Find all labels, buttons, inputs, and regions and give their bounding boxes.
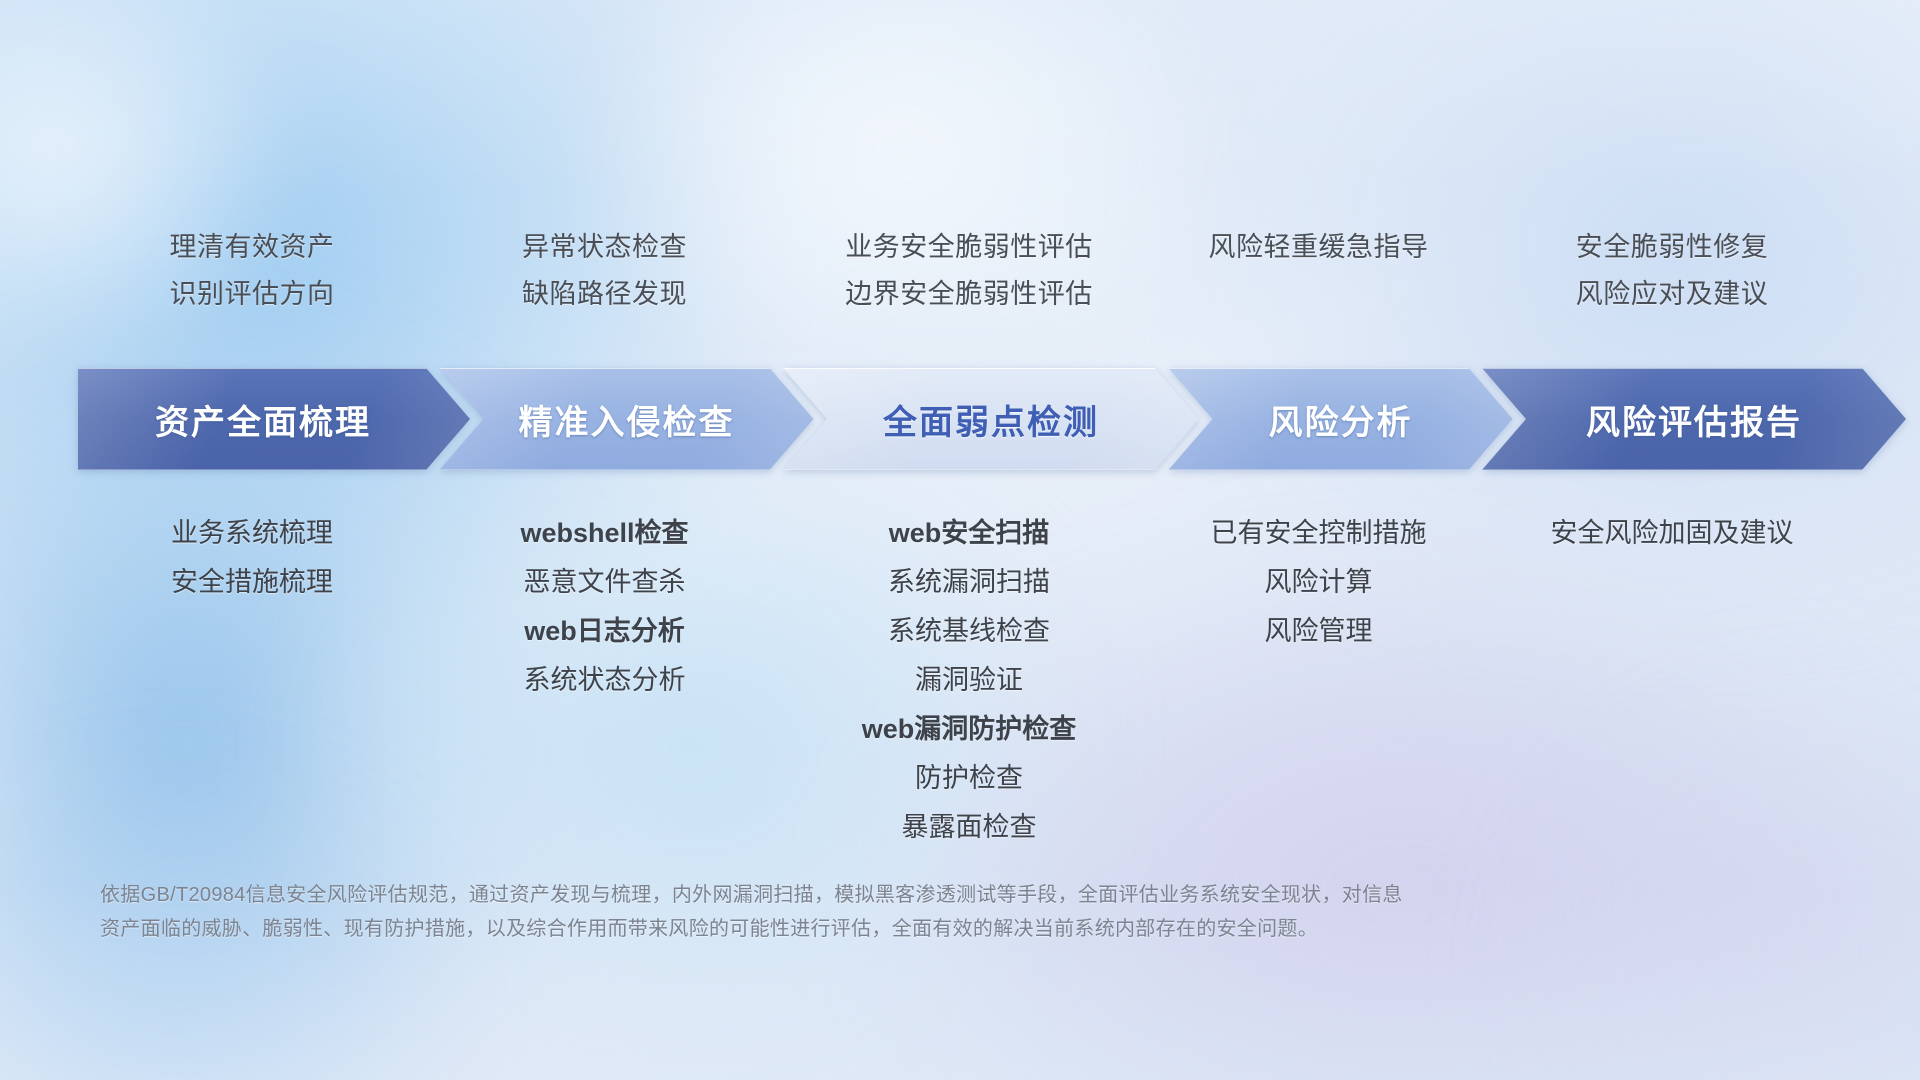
bottom-caption-item: web漏洞防护检查 bbox=[862, 714, 1077, 745]
bottom-caption-item: 系统状态分析 bbox=[524, 665, 686, 696]
top-captions-risk-analysis: 风险轻重缓急指导 bbox=[1169, 232, 1469, 352]
stage-title-intrusion-check: 精准入侵检查 bbox=[519, 395, 735, 444]
bottom-captions-risk-analysis: 已有安全控制措施风险计算风险管理 bbox=[1169, 518, 1469, 838]
top-captions-intrusion-check: 异常状态检查缺陷路径发现 bbox=[440, 232, 770, 352]
bottom-caption-row: 业务系统梳理安全措施梳理webshell检查恶意文件查杀web日志分析系统状态分… bbox=[0, 518, 1920, 838]
bottom-caption-item: 暴露面检查 bbox=[902, 812, 1037, 843]
top-caption-item: 业务安全脆弱性评估 bbox=[845, 232, 1093, 263]
bottom-caption-item: 风险计算 bbox=[1265, 567, 1373, 598]
top-captions-weakness-detection: 业务安全脆弱性评估边界安全脆弱性评估 bbox=[783, 232, 1155, 352]
stage-title-weakness-detection: 全面弱点检测 bbox=[883, 395, 1099, 444]
bottom-captions-risk-report: 安全风险加固及建议 bbox=[1482, 518, 1862, 838]
bottom-caption-item: 风险管理 bbox=[1265, 616, 1373, 647]
footer-description: 依据GB/T20984信息安全风险评估规范，通过资产发现与梳理，内外网漏洞扫描，… bbox=[100, 878, 1620, 946]
stage-chevron-weakness-detection[interactable]: 全面弱点检测 bbox=[783, 368, 1199, 470]
bottom-caption-item: 系统基线检查 bbox=[888, 616, 1050, 647]
bottom-captions-intrusion-check: webshell检查恶意文件查杀web日志分析系统状态分析 bbox=[440, 518, 770, 838]
top-caption-item: 异常状态检查 bbox=[522, 232, 687, 263]
bottom-caption-item: 系统漏洞扫描 bbox=[888, 567, 1050, 598]
top-caption-item: 安全脆弱性修复 bbox=[1576, 232, 1769, 263]
stage-title-risk-report: 风险评估报告 bbox=[1586, 395, 1802, 444]
bottom-captions-asset-inventory: 业务系统梳理安全措施梳理 bbox=[78, 518, 426, 838]
top-captions-asset-inventory: 理清有效资产识别评估方向 bbox=[78, 232, 426, 352]
stage-chevron-intrusion-check[interactable]: 精准入侵检查 bbox=[440, 368, 814, 470]
top-caption-item: 风险应对及建议 bbox=[1576, 279, 1769, 310]
top-caption-item: 边界安全脆弱性评估 bbox=[845, 279, 1093, 310]
top-caption-row: 理清有效资产识别评估方向异常状态检查缺陷路径发现业务安全脆弱性评估边界安全脆弱性… bbox=[0, 232, 1920, 352]
stage-chevron-asset-inventory[interactable]: 资产全面梳理 bbox=[78, 368, 470, 470]
top-caption-item: 理清有效资产 bbox=[170, 232, 335, 263]
bottom-caption-item: 漏洞验证 bbox=[915, 665, 1023, 696]
footer-line-1: 依据GB/T20984信息安全风险评估规范，通过资产发现与梳理，内外网漏洞扫描，… bbox=[100, 878, 1620, 912]
bottom-caption-item: 已有安全控制措施 bbox=[1211, 518, 1427, 549]
top-caption-item: 缺陷路径发现 bbox=[522, 279, 687, 310]
stage-title-risk-analysis: 风险分析 bbox=[1269, 395, 1413, 444]
bottom-caption-item: 安全风险加固及建议 bbox=[1551, 518, 1794, 549]
bottom-caption-item: 业务系统梳理 bbox=[171, 518, 333, 549]
top-captions-risk-report: 安全脆弱性修复风险应对及建议 bbox=[1482, 232, 1862, 352]
top-caption-item: 识别评估方向 bbox=[170, 279, 335, 310]
top-caption-item: 风险轻重缓急指导 bbox=[1209, 232, 1429, 263]
process-diagram: 理清有效资产识别评估方向异常状态检查缺陷路径发现业务安全脆弱性评估边界安全脆弱性… bbox=[0, 0, 1920, 1080]
bottom-caption-item: webshell检查 bbox=[520, 518, 688, 549]
bottom-caption-item: 防护检查 bbox=[915, 763, 1023, 794]
chevron-band: 资产全面梳理精准入侵检查全面弱点检测风险分析风险评估报告 bbox=[0, 368, 1920, 470]
bottom-caption-item: 恶意文件查杀 bbox=[524, 567, 686, 598]
bottom-caption-item: 安全措施梳理 bbox=[171, 567, 333, 598]
stage-chevron-risk-report[interactable]: 风险评估报告 bbox=[1482, 368, 1906, 470]
bottom-caption-item: web日志分析 bbox=[524, 616, 685, 647]
bottom-caption-item: web安全扫描 bbox=[889, 518, 1050, 549]
footer-line-2: 资产面临的威胁、脆弱性、现有防护措施，以及综合作用而带来风险的可能性进行评估，全… bbox=[100, 912, 1620, 946]
stage-chevron-risk-analysis[interactable]: 风险分析 bbox=[1169, 368, 1513, 470]
stage-title-asset-inventory: 资产全面梳理 bbox=[155, 395, 371, 444]
bottom-captions-weakness-detection: web安全扫描系统漏洞扫描系统基线检查漏洞验证web漏洞防护检查防护检查暴露面检… bbox=[783, 518, 1155, 838]
